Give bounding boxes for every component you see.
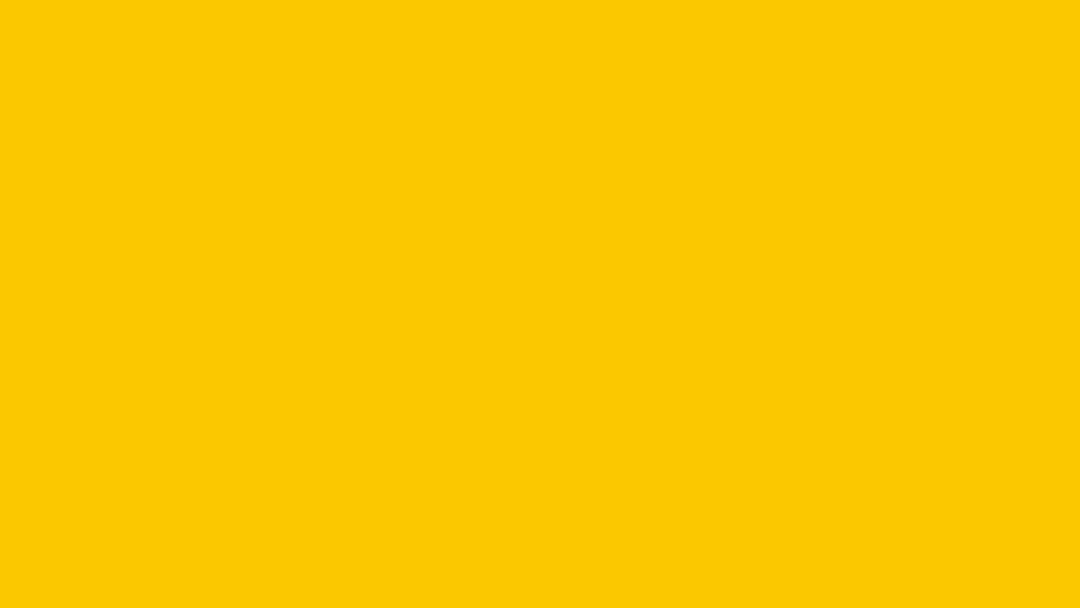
side-mirror bbox=[428, 344, 443, 360]
subcopy-group: EXPERIENCE THE FUTURE CUTTING-EDGE CARS bbox=[62, 393, 424, 539]
headline-drive-outline: DRIVE bbox=[82, 168, 351, 256]
car-photo-panel bbox=[425, 47, 1004, 557]
car-photo-image bbox=[428, 50, 1001, 554]
headline-the-dream: THE DREAM bbox=[65, 258, 294, 296]
kicker-experience-the-future: EXPERIENCE THE FUTURE bbox=[61, 393, 425, 417]
feature-line-cutting-edge: CUTTING-EDGE bbox=[60, 439, 426, 481]
classic-car bbox=[428, 214, 1001, 544]
feature-line-cars: CARS bbox=[60, 497, 426, 539]
poster-canvas: DRIVE DRIVE THE DREAM EXPERIENCE THE FUT… bbox=[0, 0, 1080, 608]
